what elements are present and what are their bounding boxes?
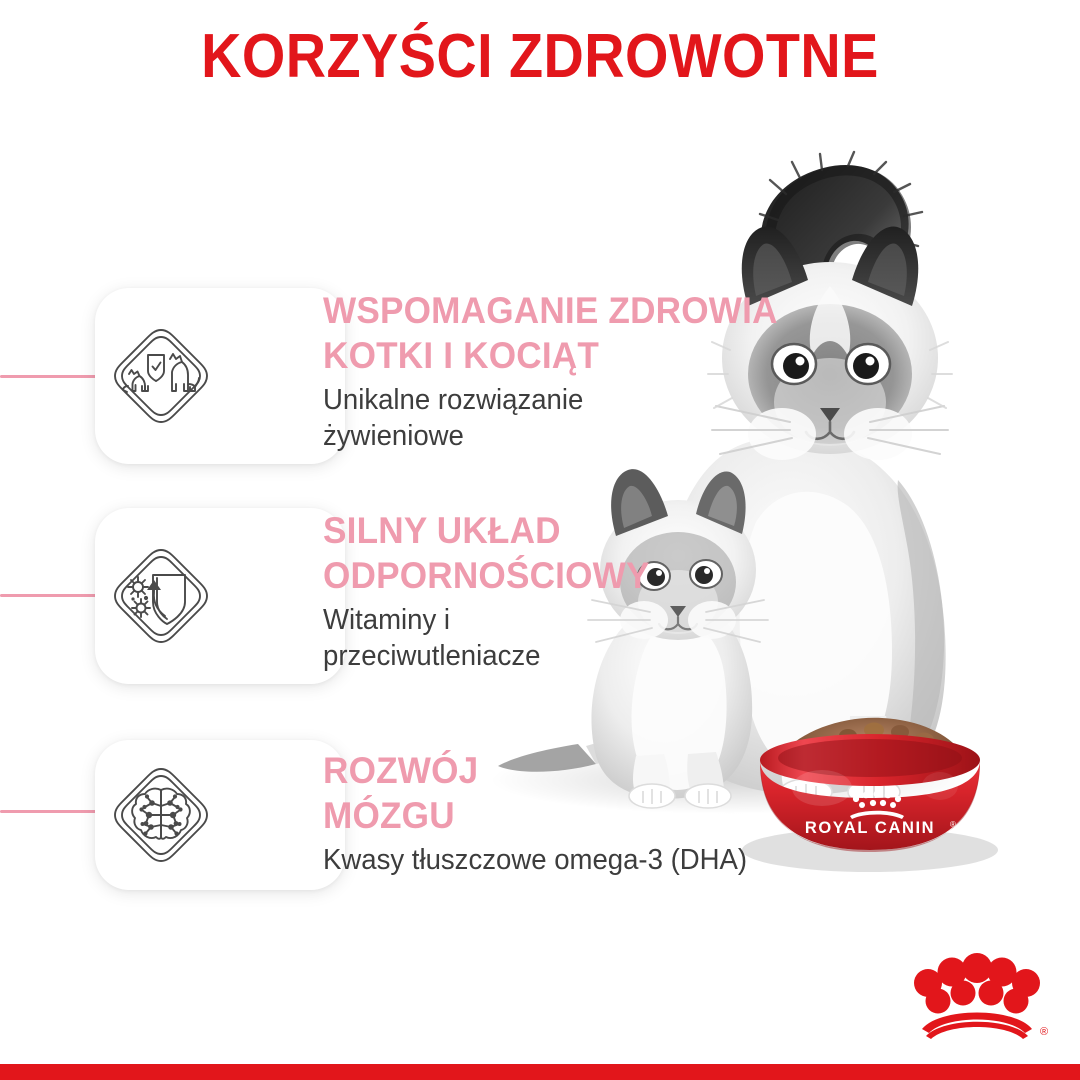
benefits-infographic-page: KORZYŚCI ZDROWOTNE [0, 0, 1080, 1080]
bottom-red-bar [0, 1064, 1080, 1080]
benefit-subtitle-1: Unikalne rozwiązanie żywieniowe [323, 382, 855, 454]
benefit-card-3[interactable]: ROZWÓJ MÓZGU Kwasy tłuszczowe omega-3 (D… [95, 740, 345, 890]
page-title: KORZYŚCI ZDROWOTNE [54, 20, 1026, 94]
benefit-subtitle-3: Kwasy tłuszczowe omega-3 (DHA) [323, 842, 855, 878]
benefit-heading-2: SILNY UKŁAD ODPORNOŚCIOWY [323, 508, 855, 598]
benefit-heading-3: ROZWÓJ MÓZGU [323, 748, 855, 838]
royal-canin-crown-logo: ® [902, 937, 1052, 1042]
registered-mark: ® [1040, 1026, 1048, 1038]
benefit-card-1[interactable]: WSPOMAGANIE ZDROWIA KOTKI I KOCIĄT Unika… [95, 288, 345, 464]
benefit-subtitle-2: Witaminy i przeciwutleniacze [323, 602, 855, 674]
cat-kitten-shield-check-icon [109, 324, 213, 428]
shield-germ-defense-icon [109, 544, 213, 648]
brain-neural-network-icon [109, 763, 213, 867]
svg-text:®: ® [950, 820, 956, 829]
benefit-heading-1: WSPOMAGANIE ZDROWIA KOTKI I KOCIĄT [323, 288, 855, 378]
benefit-card-2[interactable]: SILNY UKŁAD ODPORNOŚCIOWY Witaminy i prz… [95, 508, 345, 684]
